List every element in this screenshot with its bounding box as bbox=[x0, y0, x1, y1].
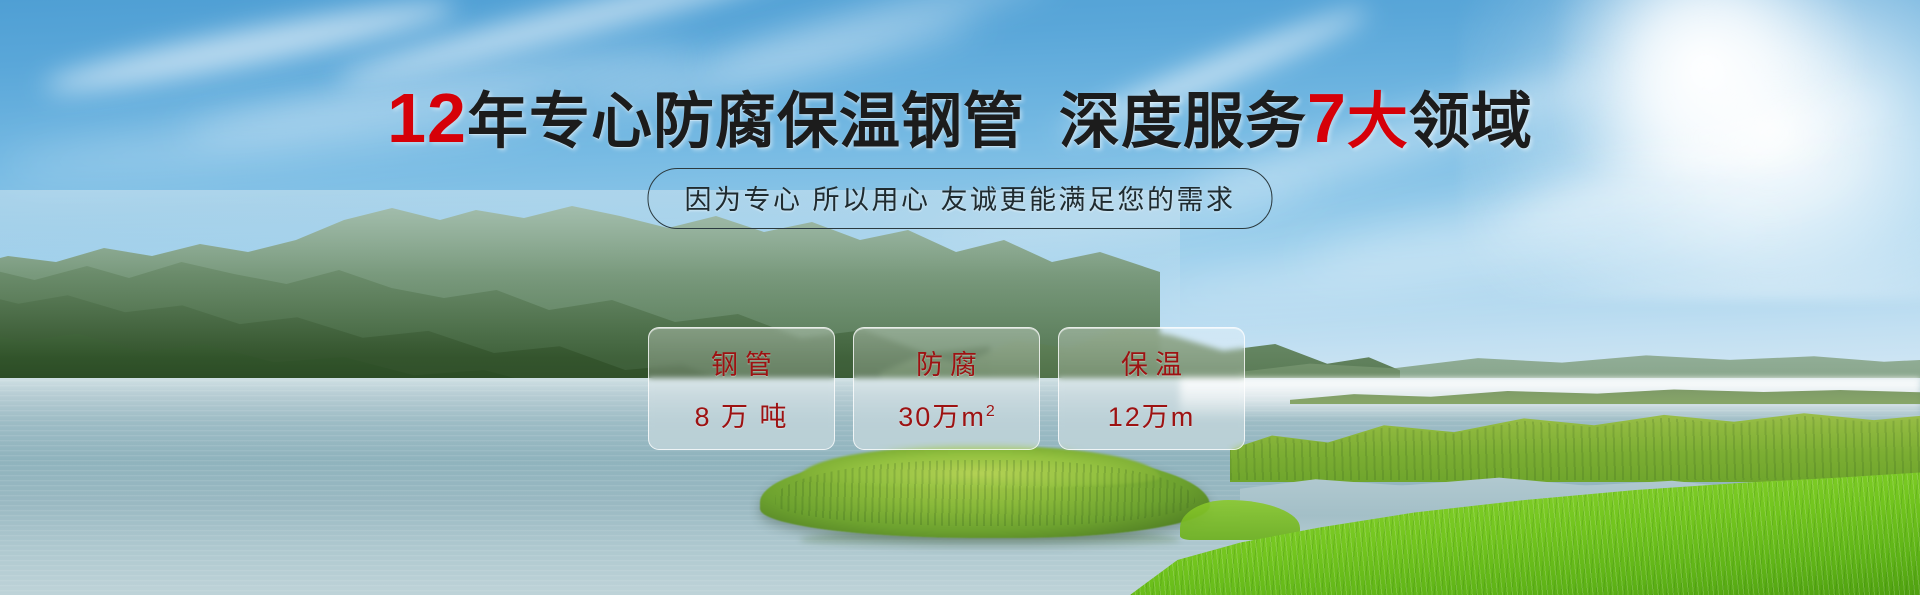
headline-fields-number: 7 bbox=[1307, 79, 1347, 157]
stat-card-steel-pipe[interactable]: 钢管 8 万 吨 bbox=[648, 327, 835, 450]
stat-card-value-text: 8 万 吨 bbox=[694, 402, 788, 432]
headline-fields-unit: 大 bbox=[1347, 87, 1409, 155]
stat-card-value: 8 万 吨 bbox=[694, 395, 788, 434]
hero-banner: 12年专心防腐保温钢管深度服务7大领域 因为专心 所以用心 友诚更能满足您的需求… bbox=[0, 0, 1920, 595]
stat-card-title: 保温 bbox=[1114, 343, 1189, 382]
headline-fields-text: 领域 bbox=[1409, 87, 1533, 155]
stat-card-insulation[interactable]: 保温 12万m bbox=[1058, 327, 1245, 450]
stat-card-value: 12万m bbox=[1108, 395, 1196, 434]
stat-card-value-text: 30万m bbox=[898, 402, 986, 432]
headline-years-number: 12 bbox=[387, 79, 467, 157]
grass-island-texture bbox=[775, 460, 1195, 526]
stat-card-value-text: 12万m bbox=[1108, 402, 1196, 432]
stat-card-anticorrosion[interactable]: 防腐 30万m2 bbox=[853, 327, 1040, 450]
stat-card-value-sup: 2 bbox=[986, 403, 995, 420]
stat-card-value: 30万m2 bbox=[898, 395, 994, 434]
headline-service-text: 深度服务 bbox=[1059, 87, 1307, 155]
headline-main-text: 年专心防腐保温钢管 bbox=[467, 87, 1025, 155]
stat-card-title: 钢管 bbox=[704, 343, 779, 382]
stat-card-title: 防腐 bbox=[909, 343, 984, 382]
banner-headline: 12年专心防腐保温钢管深度服务7大领域 bbox=[0, 82, 1920, 156]
banner-subtitle-pill: 因为专心 所以用心 友诚更能满足您的需求 bbox=[647, 168, 1272, 229]
stat-cards-group: 钢管 8 万 吨 防腐 30万m2 保温 12万m bbox=[648, 327, 1245, 450]
